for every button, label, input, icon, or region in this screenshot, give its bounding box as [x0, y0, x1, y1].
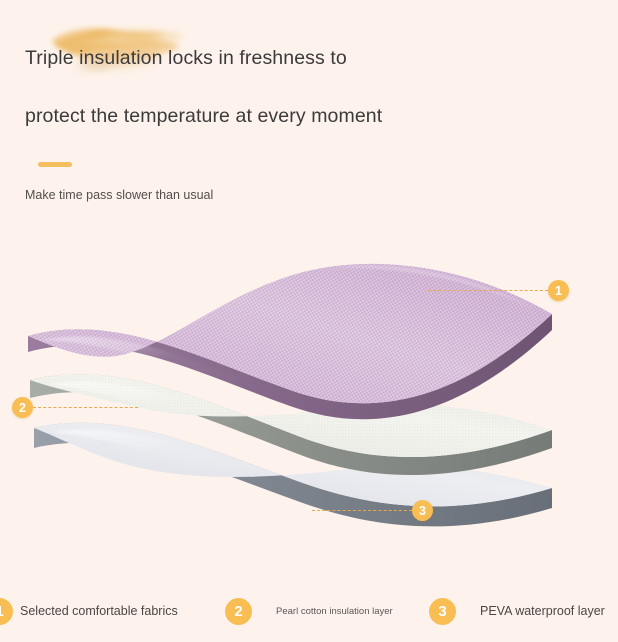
legend-badge-1: 1: [0, 598, 13, 625]
legend: 1 Selected comfortable fabrics 2 Pearl c…: [0, 594, 618, 628]
legend-item-2: 2 Pearl cotton insulation layer: [225, 594, 393, 628]
legend-item-1: 1 Selected comfortable fabrics: [0, 594, 178, 628]
callout-2-leader-line: [33, 407, 138, 408]
legend-label-2: Pearl cotton insulation layer: [276, 606, 393, 617]
callout-3-leader-line: [312, 510, 412, 511]
legend-badge-3: 3: [429, 598, 456, 625]
callout-1-leader-line: [428, 290, 548, 291]
callout-3: 3: [312, 500, 433, 521]
legend-label-3: PEVA waterproof layer: [480, 604, 605, 618]
page-title-line-1: Triple insulation locks in freshness to: [25, 47, 347, 70]
infographic-page: Triple insulation locks in freshness to …: [0, 0, 618, 642]
callout-2-badge: 2: [12, 397, 33, 418]
callout-1-badge: 1: [548, 280, 569, 301]
callout-3-badge: 3: [412, 500, 433, 521]
legend-label-1: Selected comfortable fabrics: [20, 604, 178, 618]
callout-2: 2: [12, 397, 138, 418]
legend-item-3: 3 PEVA waterproof layer: [429, 594, 605, 628]
legend-badge-2: 2: [225, 598, 252, 625]
callout-1: 1: [428, 280, 569, 301]
accent-divider: [38, 162, 72, 167]
page-subtitle: Make time pass slower than usual: [25, 188, 213, 202]
page-title-line-2: protect the temperature at every moment: [25, 105, 382, 128]
